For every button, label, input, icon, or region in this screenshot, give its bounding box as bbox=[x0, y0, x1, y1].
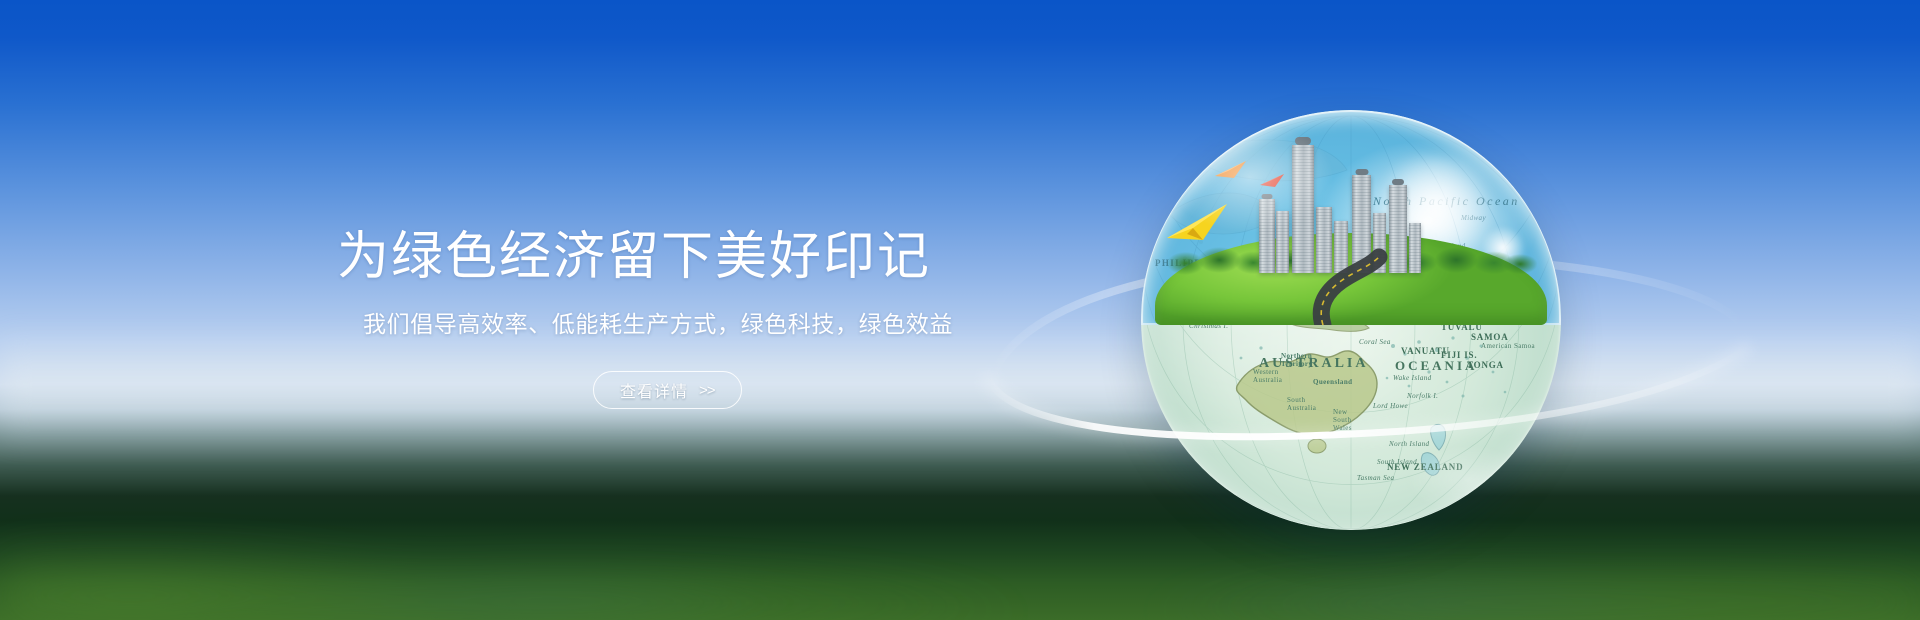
building-cap bbox=[1295, 137, 1311, 145]
page-subtitle: 我们倡导高效率、低能耗生产方式，绿色科技，绿色效益 bbox=[363, 309, 1057, 339]
globe-glass-dome: North Pacific Ocean Midway Wake Island P… bbox=[1141, 110, 1561, 325]
globe-illustration: AUSTRALIA OCEANIA NEW ZEALAND TUVALU VAN… bbox=[1141, 110, 1561, 530]
view-details-button[interactable]: 查看详情 >> bbox=[593, 371, 742, 409]
winding-road bbox=[1141, 205, 1561, 325]
cta-wrapper: 查看详情 >> bbox=[593, 371, 1057, 409]
building-cap bbox=[1392, 179, 1404, 185]
banner-stage: AUSTRALIA OCEANIA NEW ZEALAND TUVALU VAN… bbox=[0, 0, 1920, 620]
view-details-label: 查看详情 bbox=[620, 378, 688, 402]
background-green-field bbox=[0, 390, 1920, 620]
chevron-right-icon: >> bbox=[699, 382, 715, 399]
banner-copy: 为绿色经济留下美好印记 我们倡导高效率、低能耗生产方式，绿色科技，绿色效益 查看… bbox=[337, 225, 1057, 409]
globe-sphere: AUSTRALIA OCEANIA NEW ZEALAND TUVALU VAN… bbox=[1141, 110, 1561, 530]
building-cap bbox=[1355, 169, 1368, 175]
page-title: 为绿色经济留下美好印记 bbox=[337, 225, 1057, 289]
building-cap bbox=[1262, 194, 1273, 199]
